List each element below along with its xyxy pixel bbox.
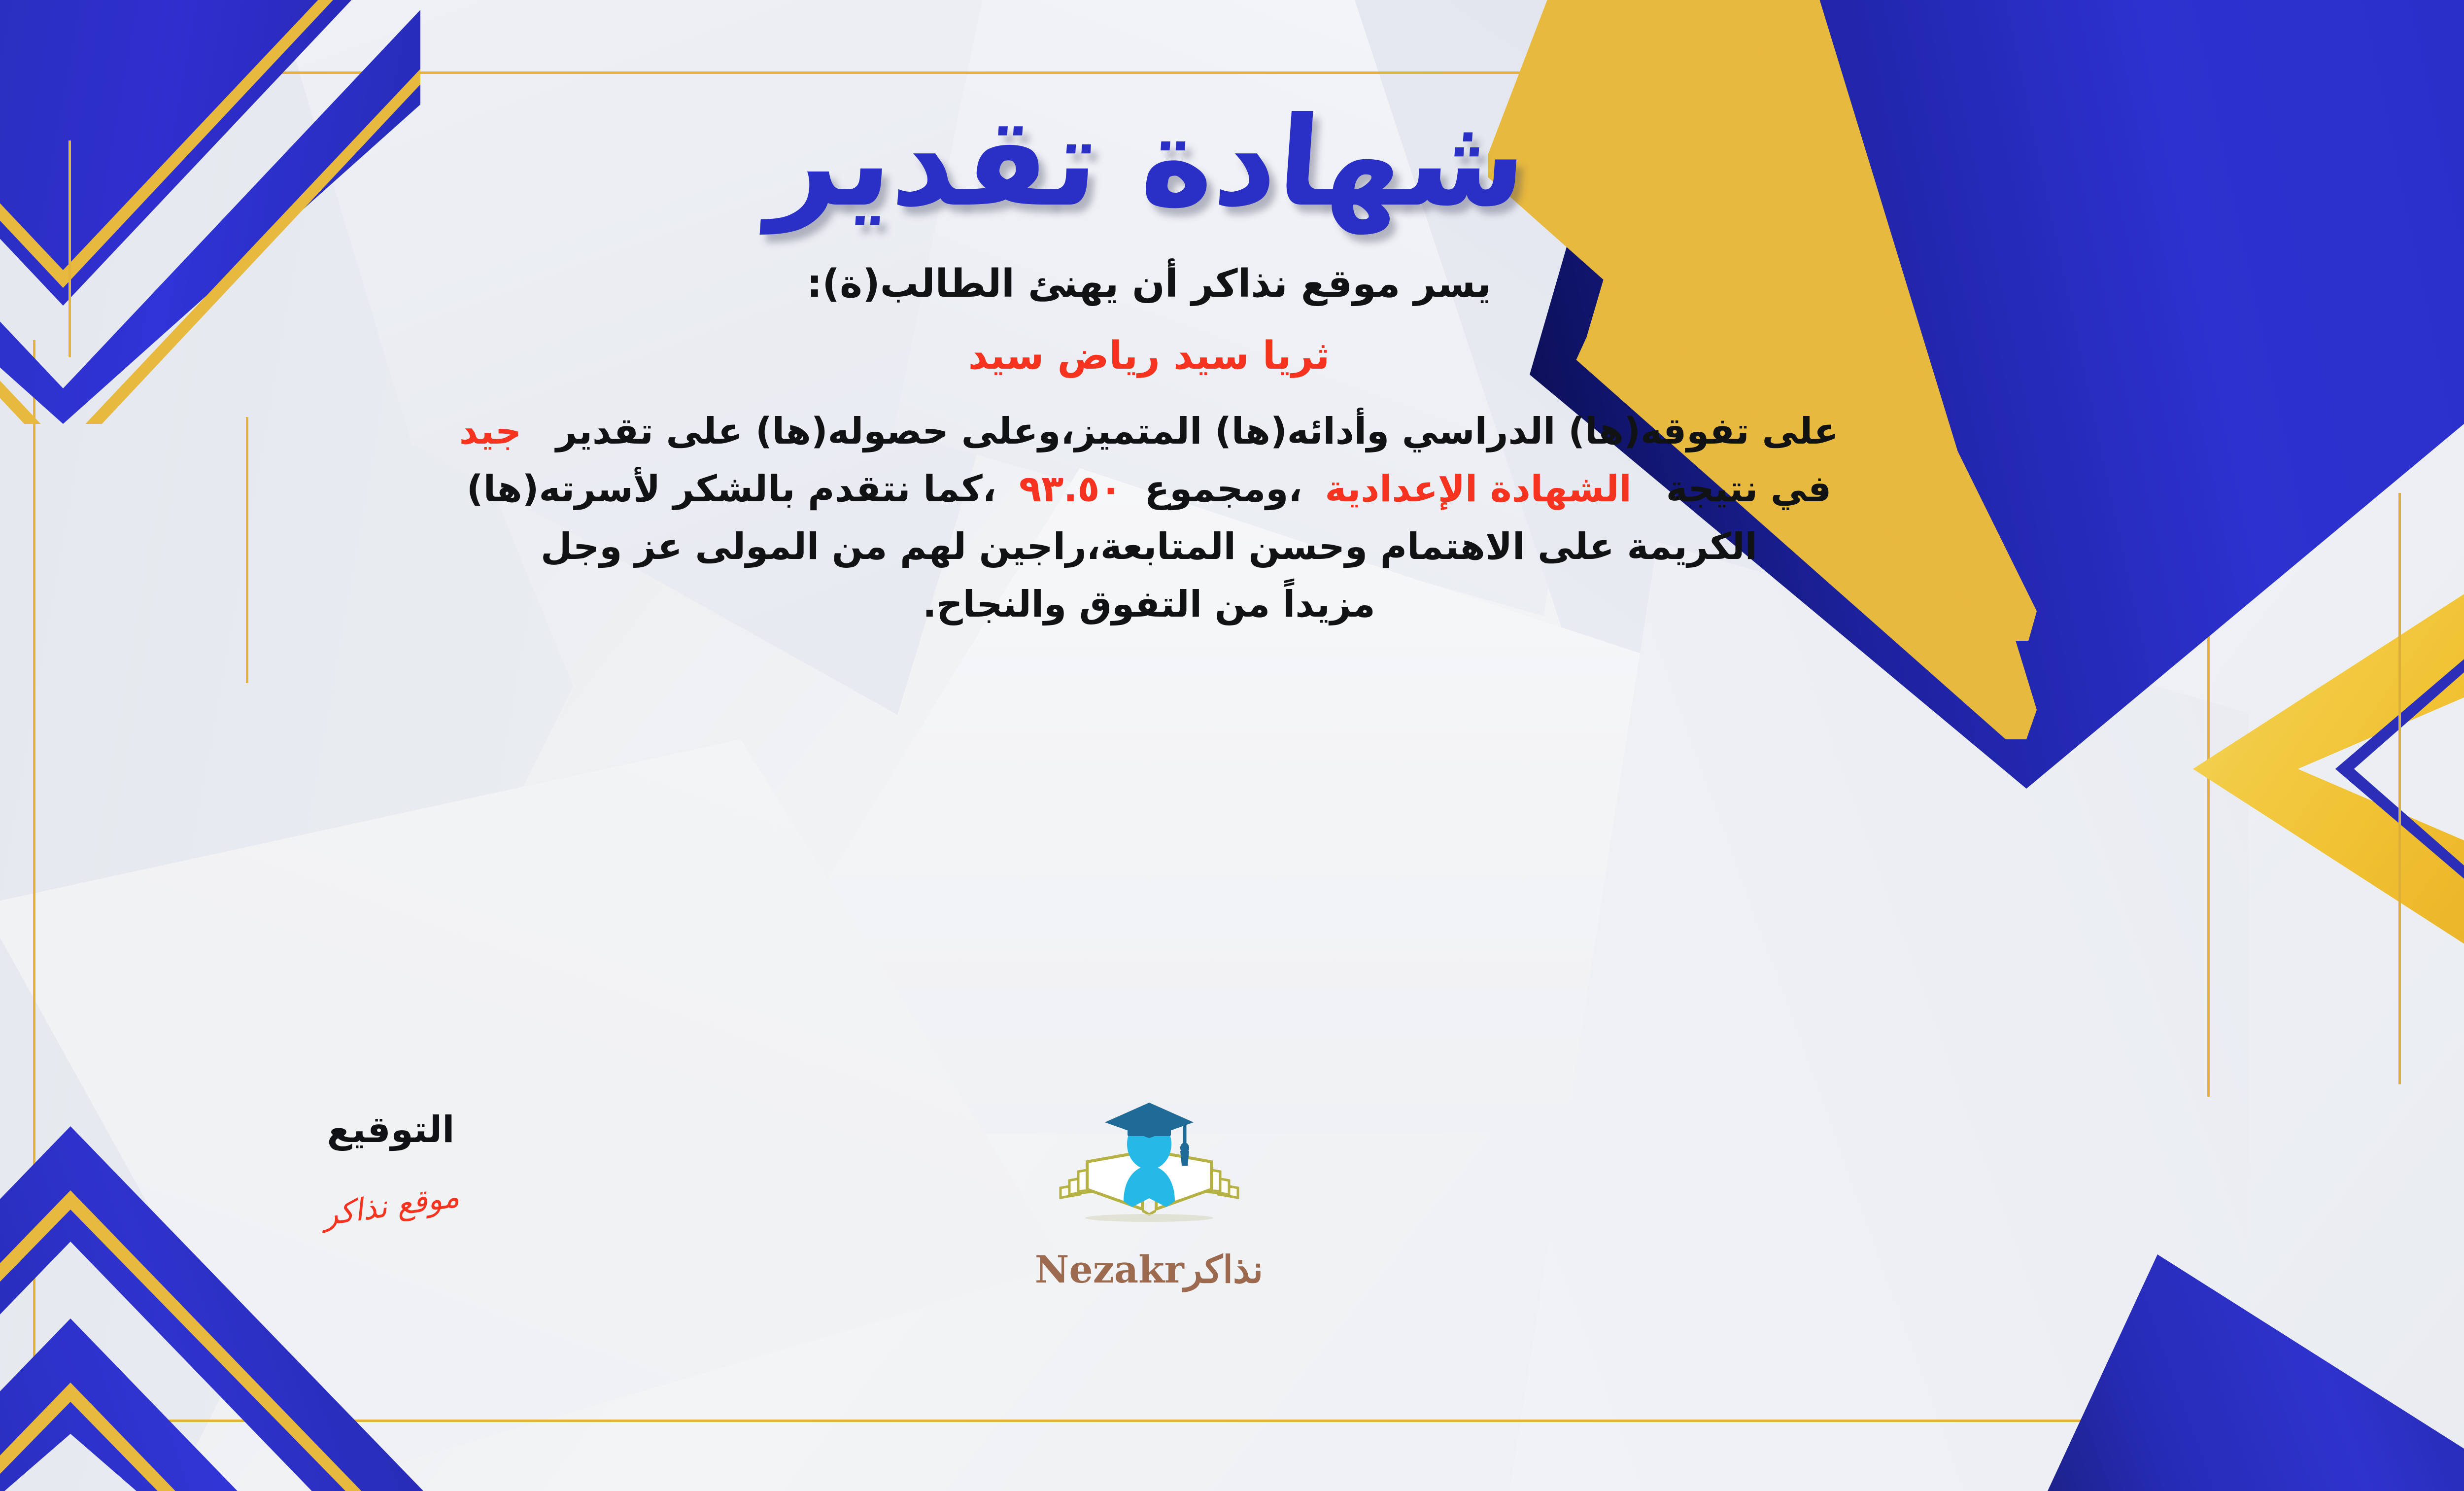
grade-value: جيد [459, 410, 521, 452]
certificate-canvas: شهادة تقدير يسر موقع نذاكر أن يهنئ الطال… [0, 0, 2464, 1491]
exam-name-value: الشهادة الإعدادية [1325, 468, 1631, 510]
body-line-2-suffix: ،كما نتقدم بالشكر لأسرته(ها) [467, 468, 996, 510]
cap-tassel [1180, 1151, 1189, 1166]
intro-line: يسر موقع نذاكر أن يهنئ الطالب(ة): [41, 254, 2257, 314]
total-score-value: ٩٣.٥٠ [1019, 468, 1122, 510]
right-gold-stem [2398, 493, 2401, 1084]
certificate-content: شهادة تقدير يسر موقع نذاكر أن يهنئ الطال… [41, 74, 2257, 633]
signature-label: التوقيع [189, 1111, 593, 1148]
site-logo: نذاكرNezakr [992, 1097, 1307, 1291]
body-line-2: في نتيجةالشهادة الإعدادية،ومجموع٩٣.٥٠،كم… [65, 460, 2233, 518]
body-line-1-text: على تفوقه(ها) الدراسي وأدائه(ها) المتميز… [556, 410, 1839, 452]
logo-name-ar: نذاكر [1184, 1248, 1263, 1291]
body-line-1: على تفوقه(ها) الدراسي وأدائه(ها) المتميز… [65, 403, 2233, 460]
body-line-4: مزيداً من التفوق والنجاح. [65, 576, 2233, 633]
signature-mark: موقع نذاكر [320, 1178, 461, 1233]
certificate-footer: التوقيع موقع نذاكر [41, 1097, 2257, 1402]
student-name: ثريا سيد رياض سيد [41, 331, 2257, 381]
body-line-2-prefix: في نتيجة [1666, 468, 1832, 510]
body-line-2-mid: ،ومجموع [1145, 468, 1302, 510]
logo-name-en: Nezakr [1035, 1248, 1184, 1291]
certificate-body: يسر موقع نذاكر أن يهنئ الطالب(ة): ثريا س… [41, 254, 2257, 633]
body-line-3: الكريمة على الاهتمام وحسن المتابعة،راجين… [65, 518, 2233, 576]
cap-top [1105, 1103, 1194, 1138]
graduate-on-open-book-icon [1046, 1097, 1253, 1245]
certificate-title: شهادة تقدير [35, 74, 2262, 227]
logo-wordmark: نذاكرNezakr [992, 1248, 1307, 1291]
signature-area: التوقيع موقع نذاكر [189, 1111, 593, 1223]
